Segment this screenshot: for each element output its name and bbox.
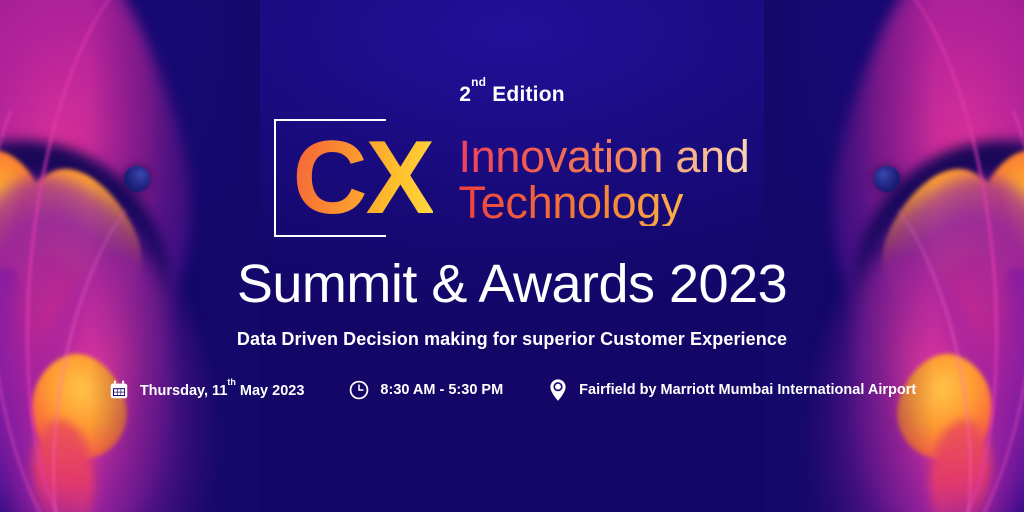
- info-item-venue: Fairfield by Marriott Mumbai Internation…: [547, 378, 916, 402]
- edition-number: 2: [459, 83, 471, 106]
- cx-logo-frame: CX: [274, 119, 386, 237]
- info-item-date: Thursday, 11th May 2023: [108, 379, 305, 401]
- edition-ordinal-suffix: nd: [471, 75, 486, 89]
- event-banner: 2nd Edition CX Innovation and Technology…: [0, 0, 1024, 512]
- info-date-day: Thursday, 11: [140, 383, 228, 399]
- clock-icon: [348, 379, 370, 401]
- event-tagline: Data Driven Decision making for superior…: [237, 329, 787, 350]
- info-date-rest: May 2023: [236, 383, 305, 399]
- logo-line-technology: Technology: [458, 180, 749, 226]
- info-venue-text: Fairfield by Marriott Mumbai Internation…: [579, 382, 916, 398]
- edition-word: Edition: [486, 83, 565, 106]
- banner-content: 2nd Edition CX Innovation and Technology…: [0, 0, 1024, 512]
- logo-wordmark: Innovation and Technology: [458, 134, 749, 226]
- cx-logo-text: CX: [292, 126, 432, 230]
- page-title: Summit & Awards 2023: [237, 253, 787, 315]
- event-logo: CX Innovation and Technology: [274, 119, 749, 237]
- logo-line-innovation: Innovation and: [458, 134, 749, 180]
- info-item-time: 8:30 AM - 5:30 PM: [348, 379, 503, 401]
- edition-label: 2nd Edition: [459, 82, 565, 107]
- info-date-text: Thursday, 11th May 2023: [140, 381, 305, 399]
- info-time-text: 8:30 AM - 5:30 PM: [380, 382, 503, 398]
- event-info-bar: Thursday, 11th May 2023 8:30 AM - 5:30 P…: [108, 378, 916, 402]
- location-pin-icon: [547, 378, 569, 402]
- calendar-icon: [108, 379, 130, 401]
- info-date-ordinal: th: [227, 377, 236, 387]
